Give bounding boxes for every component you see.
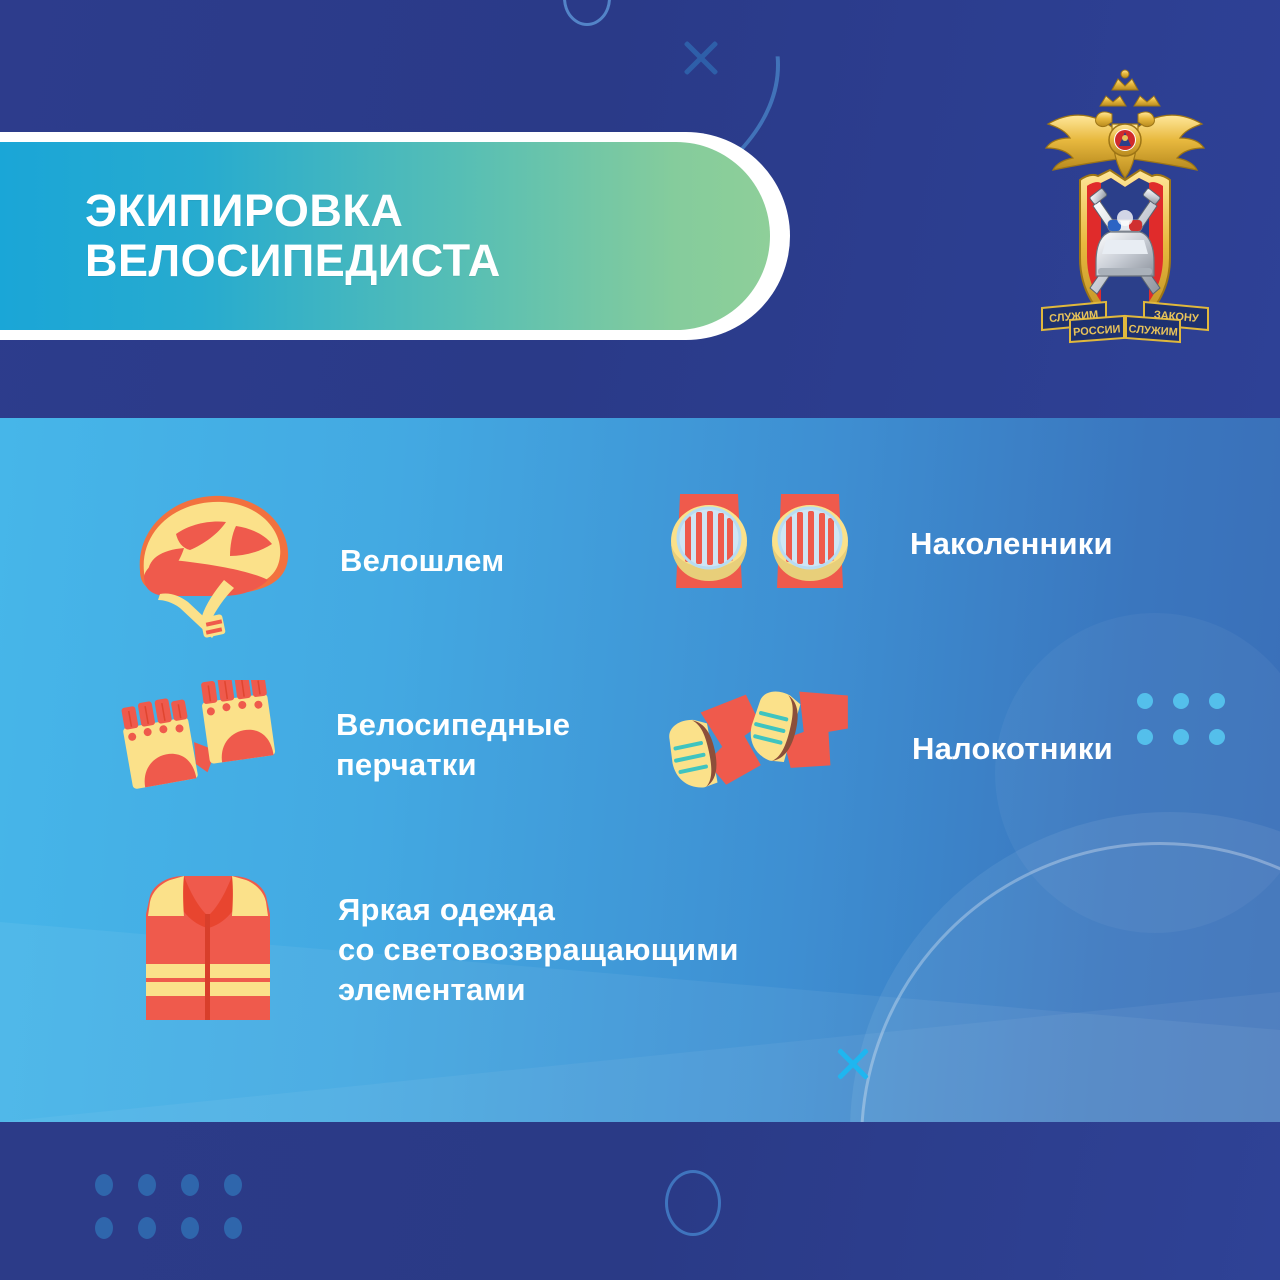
list-item-label: Наколенники [910, 524, 1113, 564]
list-item-safety-vest: Яркая одежда со световозвращающими элеме… [138, 870, 739, 1030]
list-item-elbow-pads: Налокотники [662, 686, 1113, 811]
title-banner-gradient: ЭКИПИРОВКА ВЕЛОСИПЕДИСТА [0, 142, 770, 330]
list-item-label: Яркая одежда со световозвращающими элеме… [338, 890, 739, 1009]
main-section: Велошлем [0, 418, 1280, 1122]
safety-vest-icon [138, 870, 278, 1030]
decorative-x-icon [679, 36, 723, 80]
cycling-gloves-icon [118, 680, 308, 810]
equipment-list: Велошлем [0, 418, 1280, 1122]
page-title: ЭКИПИРОВКА ВЕЛОСИПЕДИСТА [0, 186, 501, 287]
glove-right [199, 680, 276, 764]
footer-section [0, 1122, 1280, 1280]
list-item-label: Велошлем [340, 541, 504, 581]
mvd-russia-emblem: СЛУЖИМ ЗАКОНУ РОССИИ СЛУЖИМ [1020, 62, 1230, 362]
header-section: ЭКИПИРОВКА ВЕЛОСИПЕДИСТА [0, 0, 1280, 418]
list-item-label: Налокотники [912, 729, 1113, 769]
list-item-label: Велосипедные перчатки [336, 705, 570, 784]
imperial-crowns [1100, 70, 1160, 106]
list-item-helmet: Велошлем [118, 476, 504, 646]
title-banner: ЭКИПИРОВКА ВЕЛОСИПЕДИСТА [0, 132, 790, 340]
infographic-page: ЭКИПИРОВКА ВЕЛОСИПЕДИСТА [0, 0, 1280, 1280]
list-item-gloves: Велосипедные перчатки [118, 680, 570, 810]
bicycle-helmet-icon [118, 476, 318, 646]
knee-pad-right [772, 494, 848, 588]
decorative-circle-outline-footer [665, 1170, 721, 1236]
knee-pad-left [671, 494, 747, 588]
elbow-pads-icon [662, 686, 852, 811]
list-item-knee-pads: Наколенники [660, 484, 1113, 604]
decorative-circle-outline [563, 0, 611, 26]
knee-pads-icon [660, 484, 850, 604]
decorative-dot-grid-footer [95, 1174, 242, 1235]
